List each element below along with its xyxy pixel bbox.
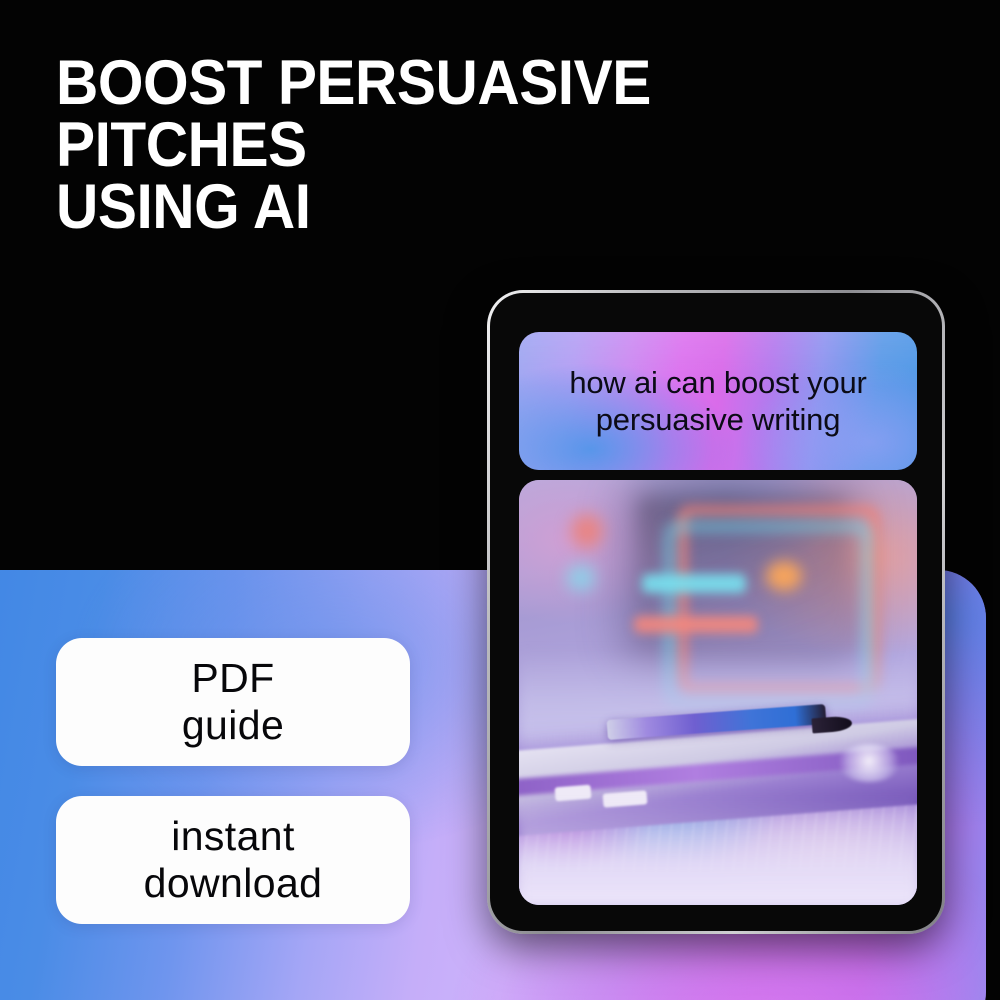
tablet-photo-card[interactable]	[519, 480, 917, 905]
photo-bokeh-cyan	[567, 565, 595, 591]
tablet-text-card[interactable]: how ai can boost your persuasive writing	[519, 332, 917, 470]
photo-neon-bar-cyan	[642, 574, 745, 593]
photo-neon-bar-coral	[634, 616, 757, 633]
page-title: BOOST PERSUASIVE PITCHES USING AI	[56, 52, 893, 238]
feature-pill-pdf-guide[interactable]: PDF guide	[56, 638, 410, 766]
photo-bokeh-orange	[766, 561, 802, 591]
poster-canvas: BOOST PERSUASIVE PITCHES USING AI PDF gu…	[0, 0, 1000, 1000]
feature-pill-pdf-guide-label: PDF guide	[182, 655, 284, 749]
photo-lens-flare	[837, 744, 901, 782]
photo-bottom-glow	[519, 795, 917, 906]
tablet-screen: how ai can boost your persuasive writing	[490, 293, 942, 931]
photo-bokeh-red	[571, 514, 603, 548]
feature-pill-instant-download-label: instant download	[144, 813, 323, 907]
tablet-text-card-label: how ai can boost your persuasive writing	[553, 364, 882, 438]
feature-pill-instant-download[interactable]: instant download	[56, 796, 410, 924]
tablet-device-mockup: how ai can boost your persuasive writing	[487, 290, 945, 934]
